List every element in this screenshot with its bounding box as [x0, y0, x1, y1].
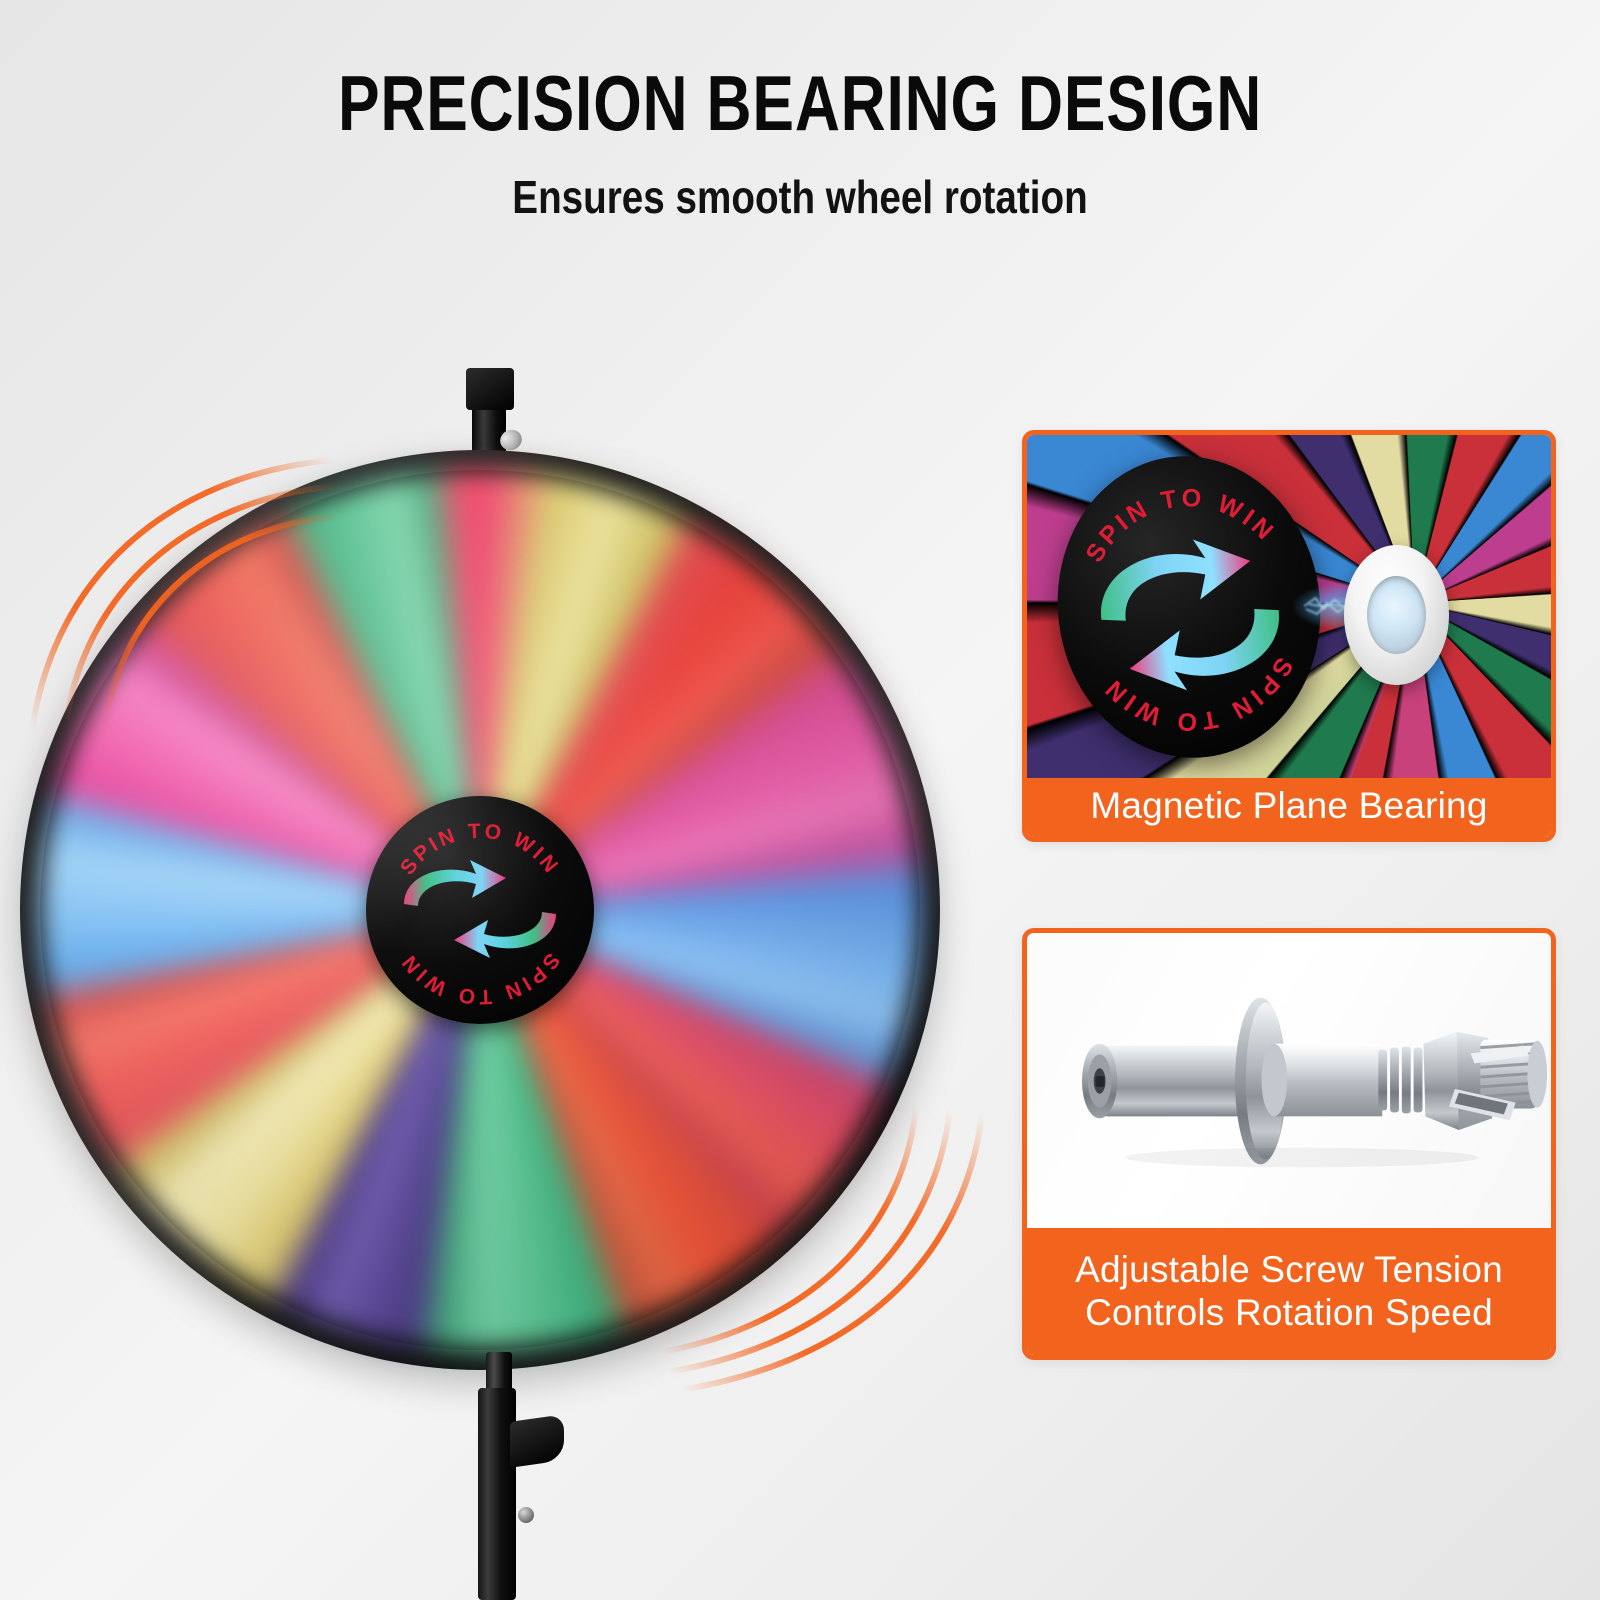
hub-gloss-highlight	[366, 796, 594, 1024]
screw-hardware-photo	[1027, 933, 1551, 1228]
wheel-top-pointer-cap	[466, 368, 514, 410]
feature-panel-screw-tension[interactable]: Adjustable Screw Tension Controls Rotati…	[1022, 928, 1556, 1360]
screw-bolt-illustration	[1027, 933, 1551, 1228]
stand-outer-tube	[478, 1388, 516, 1600]
header-block: PRECISION BEARING DESIGN Ensures smooth …	[0, 64, 1600, 224]
caption-line-2: Controls Rotation Speed	[1085, 1292, 1493, 1334]
caption-line-1: Magnetic Plane Bearing	[1090, 785, 1487, 827]
closeup-circular-arrows-icon	[1093, 530, 1287, 699]
prize-wheel-scene: SPIN TO WIN SPIN TO WIN	[0, 330, 1010, 1600]
panel-caption-screw-tension: Adjustable Screw Tension Controls Rotati…	[1027, 1228, 1551, 1357]
caption-line-1: Adjustable Screw Tension	[1075, 1249, 1503, 1291]
feature-panel-magnetic-bearing[interactable]: SPIN TO WIN SPIN TO WIN	[1022, 430, 1556, 842]
stand-screw-icon	[518, 1507, 534, 1523]
wheel-center-hub[interactable]: SPIN TO WIN SPIN TO WIN	[366, 796, 594, 1024]
spinning-prize-wheel[interactable]: SPIN TO WIN SPIN TO WIN	[20, 450, 940, 1370]
page-title: PRECISION BEARING DESIGN	[160, 64, 1440, 142]
panel-caption-magnetic-bearing: Magnetic Plane Bearing	[1027, 778, 1551, 839]
magnetic-bearing-photo: SPIN TO WIN SPIN TO WIN	[1027, 435, 1551, 778]
magnetic-bearing-cap	[1344, 545, 1449, 686]
page-subtitle: Ensures smooth wheel rotation	[128, 170, 1472, 224]
height-adjust-clamp-lever[interactable]	[510, 1414, 564, 1468]
